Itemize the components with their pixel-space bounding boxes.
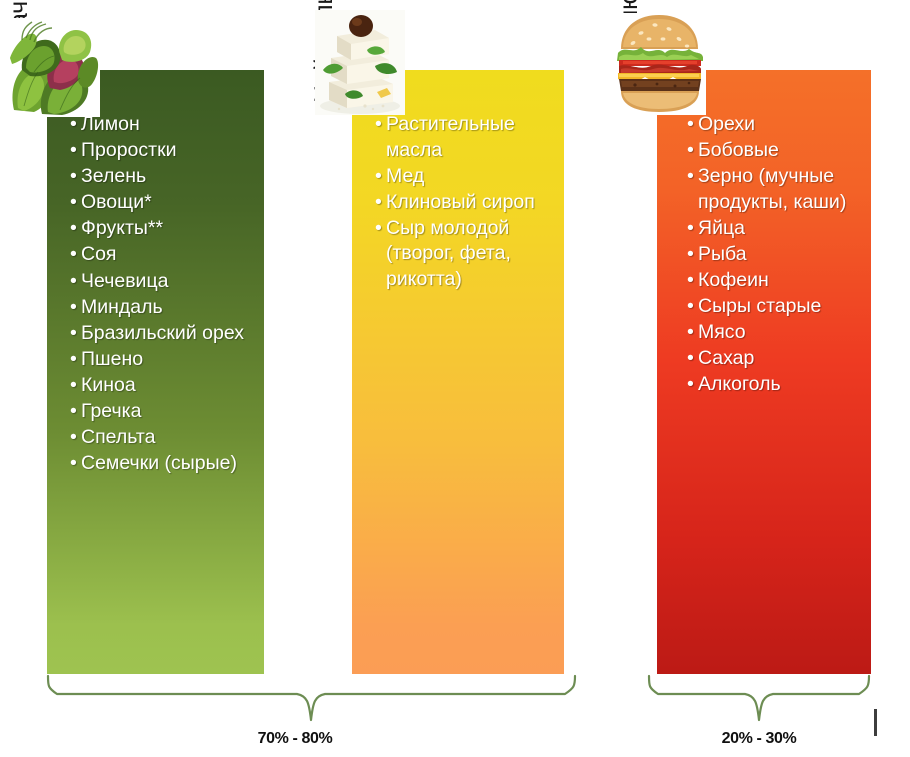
list-item: Алкоголь [687,372,867,398]
list-item: Мясо [687,320,867,346]
list-item: Бразильский орех [70,321,260,347]
list-item: Пшено [70,347,260,373]
list-item: Киноа [70,373,260,399]
column-neutral: Растительные масла Мед Клиновый сироп Сы… [352,70,564,674]
list-item: Соя [70,242,260,268]
list-item: Проростки [70,138,260,164]
list-item: Чечевица [70,269,260,295]
leafy-greens-photo [8,18,100,117]
edge-tick-mark [874,709,877,736]
list-item: Фрукты** [70,216,260,242]
list-item: Зерно (мучные продукты, каши) [687,164,867,215]
list-item: Бобовые [687,138,867,164]
alkaline-food-list: Лимон Проростки Зелень Овощи* Фрукты** С… [70,112,260,477]
list-item: Сахар [687,346,867,372]
list-item: Яйца [687,216,867,242]
list-item: Сыры старые [687,294,867,320]
burger-photo [613,13,706,115]
list-item: Мед [375,164,563,190]
brace-acid [645,674,873,722]
percent-label-alkaline-neutral: 70% - 80% [230,730,360,748]
list-item: Овощи* [70,190,260,216]
list-item: Растительные масла [375,112,563,163]
percent-label-acid: 20% - 30% [694,730,824,748]
list-item: Сыр молодой (творог, фета, рикотта) [375,216,563,293]
neutral-food-list: Растительные масла Мед Клиновый сироп Сы… [375,112,563,293]
infographic-canvas: Лимон Проростки Зелень Овощи* Фрукты** С… [0,0,910,757]
tofu-cheese-photo [315,10,405,115]
list-item: Зелень [70,164,260,190]
list-item: Спельта [70,425,260,451]
list-item: Семечки (сырые) [70,451,260,477]
list-item: Орехи [687,112,867,138]
list-item: Гречка [70,399,260,425]
list-item: Рыба [687,242,867,268]
acid-food-list: Орехи Бобовые Зерно (мучные продукты, ка… [687,112,867,399]
column-acid: Орехи Бобовые Зерно (мучные продукты, ка… [657,70,871,674]
column-alkaline: Лимон Проростки Зелень Овощи* Фрукты** С… [47,70,264,674]
brace-alkaline-neutral [44,674,579,722]
list-item: Кофеин [687,268,867,294]
list-item: Клиновый сироп [375,190,563,216]
list-item: Миндаль [70,295,260,321]
